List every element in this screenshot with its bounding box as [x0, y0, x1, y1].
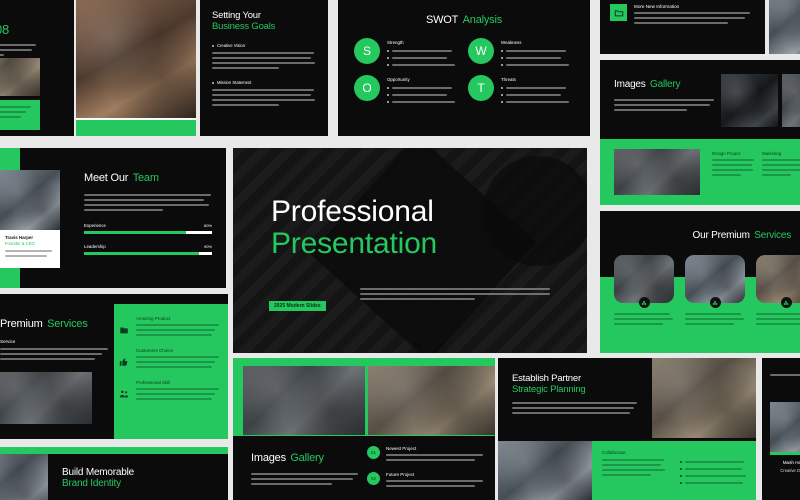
premium-card-body — [756, 313, 800, 325]
premium-card-photo — [756, 255, 800, 303]
gallery-bottom-title-white: Images — [251, 452, 286, 464]
premium-left-body — [0, 348, 110, 360]
collaborate-bullets — [680, 459, 746, 487]
gallery-right-title-white: Images — [614, 79, 646, 90]
laptop-photo-slide[interactable] — [769, 0, 800, 54]
cafe-photo — [76, 0, 196, 118]
stats-photo — [0, 58, 40, 96]
swot-label: Weakness — [501, 40, 574, 45]
profile-photo-underline — [770, 452, 800, 455]
stats-highlight-block — [0, 100, 40, 130]
gallery-card-body — [762, 159, 800, 176]
gallery-card-label: Design Project — [712, 151, 756, 156]
bullet-icon — [501, 87, 503, 89]
premium-left-title-white: Premium — [0, 318, 43, 330]
gallery-bottom-title-green: Gallery — [290, 452, 323, 464]
premium-right-title-white: Our Premium — [693, 230, 750, 241]
hero-title-slide[interactable]: Professional Presentation 2025 Modern Sl… — [233, 148, 587, 353]
brand-identity-slide[interactable]: Build Memorable Brand Identity — [0, 447, 228, 500]
premium-card-photo — [614, 255, 674, 303]
stats-number: 308.508 — [0, 22, 66, 37]
gallery-photo[interactable] — [782, 74, 800, 127]
team-title-green: Team — [133, 172, 159, 184]
thumbup-icon — [118, 348, 130, 371]
strategic-planning-slide[interactable]: Establish Partner Strategic Planning Col… — [498, 358, 756, 500]
collaborate-panel: Collaborate — [592, 441, 756, 500]
skill-progress-track — [84, 252, 212, 255]
bullet-icon — [387, 101, 389, 103]
gallery-right-lower-panel: Design Project Marketing — [600, 139, 800, 205]
swot-label: Strength — [387, 40, 460, 45]
swot-slide[interactable]: SWOT Analysis S Strength W — [338, 0, 590, 136]
skill-progress-fill — [84, 252, 199, 255]
collab-photo — [498, 441, 592, 500]
premium-services-slide-left[interactable]: Premium Services Service Amazing Product — [0, 294, 228, 439]
bullet-icon — [501, 94, 503, 96]
premium-card-body — [685, 313, 745, 325]
team-member-card[interactable]: Travis Harper Founder & CEO — [0, 230, 60, 268]
planning-photo — [652, 358, 756, 438]
skill-row: Experience 80% — [84, 223, 212, 234]
swot-title-white: SWOT — [426, 14, 458, 26]
goal-item[interactable]: Mission Statement — [212, 80, 316, 106]
team-member-role: Founder & CEO — [5, 241, 55, 246]
feature-label: Professional Skill — [136, 380, 222, 385]
skill-value: 80% — [204, 223, 212, 228]
stats-slide[interactable]: 308.508 — [0, 0, 74, 136]
brand-title-line2: Brand Identity — [62, 478, 134, 489]
gallery-card-body — [712, 159, 756, 176]
binoculars-icon — [781, 297, 792, 308]
gallery-card[interactable]: Marketing — [762, 151, 800, 179]
premium-left-photo — [0, 372, 92, 424]
premium-card-photo — [685, 255, 745, 303]
brand-accent-bar — [0, 447, 228, 454]
bullet-icon — [212, 45, 214, 47]
feature-label: Customers Choice — [136, 348, 222, 353]
goal-label: Mission Statement — [217, 80, 251, 85]
binoculars-icon — [710, 297, 721, 308]
premium-card[interactable] — [756, 255, 800, 328]
bullet-icon — [501, 57, 503, 59]
skill-label: Leadership — [84, 244, 106, 249]
feature-item[interactable]: Amazing Product — [118, 316, 222, 339]
business-goals-slide[interactable]: Setting Your Business Goals Creative Vis… — [200, 0, 328, 136]
team-member-name: Travis Harper — [5, 235, 55, 240]
hero-body — [360, 288, 552, 303]
swot-letter: W — [475, 44, 486, 58]
brand-title-line1: Build Memorable — [62, 467, 134, 478]
goal-label: Creative Vision — [217, 43, 245, 48]
binoculars-icon — [639, 297, 650, 308]
photo-accent-bar — [76, 120, 196, 136]
bullet-icon — [501, 64, 503, 66]
feature-item[interactable]: Customers Choice — [118, 348, 222, 371]
gallery-card[interactable]: Design Project — [712, 151, 756, 179]
goal-body — [212, 52, 316, 69]
gallery-photo[interactable] — [243, 366, 365, 435]
images-gallery-slide-right[interactable]: Images Gallery Design Project Marketing — [600, 60, 800, 205]
team-title-white: Meet Our — [84, 172, 128, 184]
bullet-icon — [387, 50, 389, 52]
hero-title-line2: Presentation — [271, 228, 587, 260]
swot-label: Threats — [501, 77, 574, 82]
skill-row: Leadership 90% — [84, 244, 212, 255]
profile-top-text — [762, 358, 800, 376]
team-body — [84, 194, 212, 211]
profile-photo — [770, 402, 800, 452]
folder-icon — [118, 316, 130, 339]
hero-badge[interactable]: 2025 Modern Slides — [269, 301, 326, 311]
bullet-icon — [680, 468, 682, 470]
project-number-badge: 02 — [367, 472, 380, 485]
swot-letter-badge: T — [468, 75, 494, 101]
premium-card[interactable] — [685, 255, 745, 328]
people-icon — [118, 380, 130, 403]
more-info-body — [634, 12, 755, 24]
goal-item[interactable]: Creative Vision — [212, 43, 316, 69]
gallery-photo[interactable] — [614, 149, 700, 195]
brand-photo — [0, 454, 48, 500]
swot-quadrant-weakness[interactable]: W Weakness — [468, 38, 574, 69]
swot-letter-badge: W — [468, 38, 494, 64]
profile-name: Mash Harper — [770, 460, 800, 465]
swot-label: Opportunity — [387, 77, 460, 82]
gallery-card-label: Marketing — [762, 151, 800, 156]
swot-title-green: Analysis — [463, 14, 502, 26]
bullet-icon — [680, 461, 682, 463]
project-number: 02 — [371, 476, 376, 481]
bullet-icon — [387, 57, 389, 59]
stats-caption — [0, 44, 36, 56]
gallery-photo[interactable] — [721, 74, 778, 127]
bullet-icon — [387, 64, 389, 66]
more-info-heading: More New Information — [634, 4, 755, 9]
gallery-photo[interactable] — [368, 366, 495, 435]
skill-progress-track — [84, 231, 212, 234]
swot-letter: O — [362, 81, 371, 95]
planning-title-line2: Strategic Planning — [512, 385, 640, 396]
more-info-slide[interactable]: More New Information — [600, 0, 765, 54]
bullet-icon — [387, 94, 389, 96]
planning-body — [512, 402, 640, 414]
swot-letter: S — [363, 44, 371, 58]
skill-progress-fill — [84, 231, 186, 234]
collaborate-body — [602, 459, 668, 487]
premium-card[interactable] — [614, 255, 674, 328]
profile-card-slide[interactable]: Mash Harper Creative Director — [762, 358, 800, 500]
gallery-right-title-green: Gallery — [650, 79, 680, 90]
project-item[interactable]: 02 Future Project — [367, 472, 487, 490]
template-preview-board: 308.508 Setting Your Business Goals Crea… — [0, 0, 800, 500]
folder-icon — [610, 4, 627, 21]
premium-right-title-green: Services — [754, 230, 791, 241]
bullet-icon — [680, 475, 682, 477]
gallery-right-body — [614, 99, 718, 111]
project-number: 01 — [371, 450, 376, 455]
bullet-icon — [501, 101, 503, 103]
meet-our-team-slide[interactable]: Travis Harper Founder & CEO Meet Our Tea… — [0, 148, 226, 288]
collaborate-label: Collaborate — [602, 450, 746, 455]
photo-slide[interactable] — [76, 0, 196, 136]
hero-title-line1: Professional — [271, 196, 587, 228]
swot-letter-badge: S — [354, 38, 380, 64]
project-item[interactable]: 01 Newest Project — [367, 446, 487, 464]
swot-letter-badge: O — [354, 75, 380, 101]
images-gallery-slide-bottom[interactable]: Images Gallery 01 Newest Project 02 — [233, 358, 495, 500]
laptop-photo — [769, 0, 800, 54]
skill-label: Experience — [84, 223, 106, 228]
swot-quadrant-opportunity[interactable]: O Opportunity — [354, 75, 460, 106]
swot-quadrant-threats[interactable]: T Threats — [468, 75, 574, 106]
project-label: Future Project — [386, 472, 487, 477]
our-premium-services-slide[interactable]: Our Premium Services — [600, 211, 800, 353]
team-member-blurb — [5, 250, 55, 257]
premium-card-body — [614, 313, 674, 325]
premium-left-subhead: Service — [0, 339, 110, 344]
project-label: Newest Project — [386, 446, 487, 451]
premium-left-title-green: Services — [47, 318, 88, 330]
feature-label: Amazing Product — [136, 316, 222, 321]
bullet-icon — [501, 50, 503, 52]
swot-quadrant-strength[interactable]: S Strength — [354, 38, 460, 69]
goal-body — [212, 89, 316, 106]
project-number-badge: 01 — [367, 446, 380, 459]
feature-item[interactable]: Professional Skill — [118, 380, 222, 403]
skill-value: 90% — [204, 244, 212, 249]
bullet-icon — [212, 82, 214, 84]
swot-letter: T — [477, 81, 484, 95]
bullet-icon — [680, 482, 682, 484]
bullet-icon — [387, 87, 389, 89]
gallery-bottom-body — [251, 473, 361, 485]
goals-title-line2: Business Goals — [212, 22, 316, 33]
profile-role: Creative Director — [770, 468, 800, 473]
team-member-photo — [0, 170, 60, 230]
